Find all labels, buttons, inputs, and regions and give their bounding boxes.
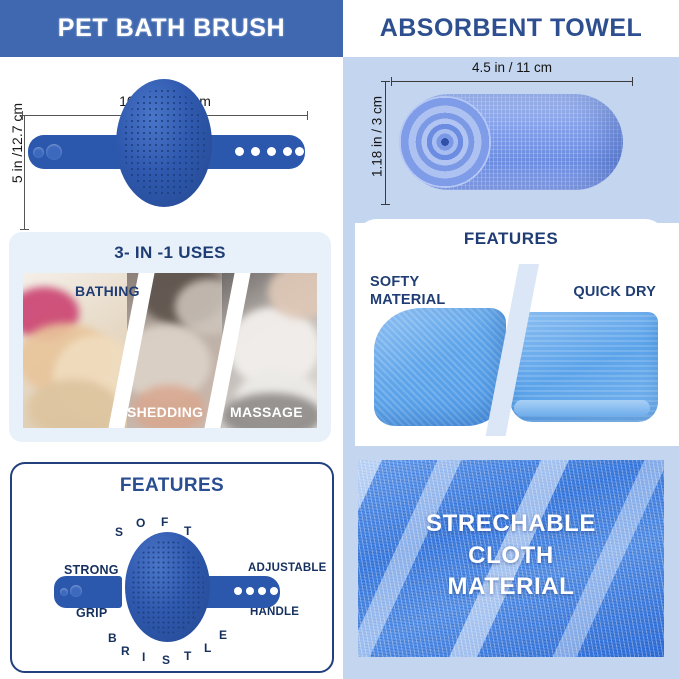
label-softy-material: SOFTY MATERIAL (370, 274, 445, 309)
features-strap-hole-4 (270, 587, 278, 595)
brush-head (116, 79, 212, 207)
uses-card-title: 3- IN -1 USES (9, 243, 331, 263)
left-header-title: PET BATH BRUSH (58, 14, 285, 43)
photo-label-bathing: BATHING (75, 283, 140, 299)
photo-label-massage: MASSAGE (230, 404, 303, 420)
photo-label-shedding: SHEDDING (127, 404, 203, 420)
features-strap-hole-1 (234, 587, 242, 595)
towel-quickdry-image (510, 312, 658, 422)
brush-strap-hole-4 (283, 147, 292, 156)
brush-strap-hole-3 (267, 147, 276, 156)
cloth-caption-line2: CLOTH (358, 540, 664, 572)
brush-bristles (123, 88, 206, 198)
towel-fold-edge (514, 400, 650, 416)
brush-strap-hole-2 (251, 147, 260, 156)
cloth-caption: STRECHABLE CLOTH MATERIAL (358, 508, 664, 603)
features-brush-head (125, 532, 210, 642)
features-brush-bristles (131, 540, 204, 635)
right-header-banner: ABSORBENT TOWEL (343, 0, 679, 57)
left-header-banner: PET BATH BRUSH (0, 0, 343, 57)
brush-grip-nub-2 (46, 144, 62, 160)
cloth-caption-line3: MATERIAL (358, 571, 664, 603)
towel-split-panel: SOFTY MATERIAL QUICK DRY (358, 264, 666, 436)
features-grip-nub-1 (60, 588, 68, 596)
right-header-title: ABSORBENT TOWEL (380, 14, 643, 43)
uses-photo-strip: BATHING SHEDDING MASSAGE (23, 273, 317, 428)
brush-hero-section: 10.5 in / 27 cm 5 in /12.7 cm (0, 57, 343, 223)
towel-features-title: FEATURES (464, 229, 558, 249)
brush-grip-nub-1 (33, 147, 44, 158)
brush-strap-hole-1 (235, 147, 244, 156)
label-quick-dry: QUICK DRY (573, 284, 656, 300)
towel-roll-spiral (399, 96, 491, 188)
features-strap-hole-3 (258, 587, 266, 595)
infographic-page: PET BATH BRUSH 10.5 in / 27 cm 5 in /12.… (0, 0, 679, 679)
features-grip-nub-2 (70, 585, 82, 597)
cloth-macro-image: STRECHABLE CLOTH MATERIAL (358, 460, 664, 657)
rolled-towel-illustration (401, 94, 623, 190)
label-softy-line1: SOFTY (370, 274, 445, 292)
uses-card: 3- IN -1 USES BATHING SHEDDING MASSAGE (9, 232, 331, 442)
label-softy-line2: MATERIAL (370, 292, 445, 310)
cloth-section: STRECHABLE CLOTH MATERIAL (343, 446, 679, 679)
cloth-caption-line1: STRECHABLE (358, 508, 664, 540)
brush-strap-hole-5 (295, 147, 304, 156)
towel-height-label: 1.18 in / 3 cm (370, 81, 385, 193)
towel-features-pill: FEATURES (357, 219, 665, 258)
towel-softy-image (374, 308, 506, 426)
towel-width-dimension-line (391, 81, 633, 82)
features-strap-hole-2 (246, 587, 254, 595)
brush-features-card: FEATURES S O F T B R I S T L E STRONG GR… (10, 462, 334, 673)
towel-width-label: 4.5 in / 11 cm (391, 60, 633, 75)
brush-illustration (0, 57, 343, 223)
brush-features-illustration (12, 464, 328, 667)
towel-hero-section: 4.5 in / 11 cm 1.18 in / 3 cm (343, 57, 679, 223)
towel-height-dimension-line (385, 81, 386, 205)
